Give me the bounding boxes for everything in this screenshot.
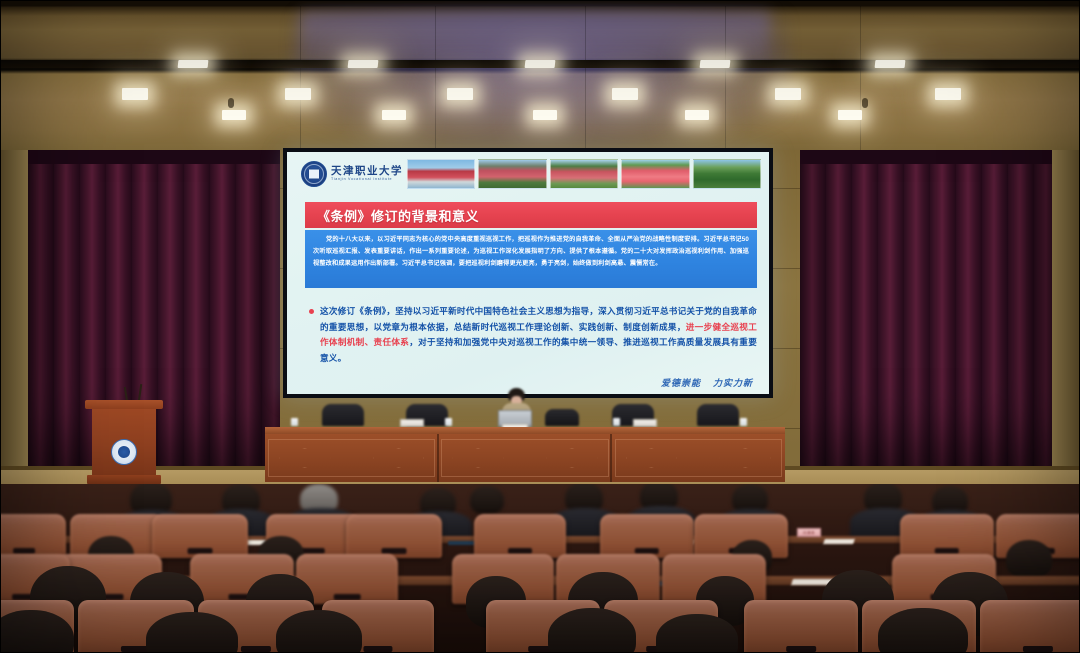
ceiling-speaker-icon (228, 98, 234, 108)
auditorium-seat (346, 514, 442, 558)
university-name-en: Tianjin Vocational Institute (331, 178, 403, 182)
audience-nameplate: 闫清秀 (797, 528, 821, 537)
ceiling-light (685, 110, 709, 120)
audience-head (1006, 540, 1052, 578)
ceiling-light (348, 60, 379, 68)
ceiling-light (525, 60, 556, 68)
campus-photo-5 (693, 159, 761, 189)
campus-photo-1 (407, 159, 475, 189)
slide-signature: 爱德崇能 力实力新 (661, 376, 753, 389)
university-seal-icon (111, 439, 137, 465)
ceiling-light-wash-upper (300, 12, 770, 64)
ceiling-speaker-icon (862, 98, 868, 108)
bullet-dot-icon (309, 309, 314, 314)
ceiling-light (875, 60, 906, 68)
ceiling-light (447, 88, 473, 100)
table-panel (615, 439, 782, 477)
stage-curtain-right (800, 150, 1052, 480)
university-emblem-icon (301, 161, 327, 187)
campus-photo-2 (478, 159, 546, 189)
audience-head (878, 608, 968, 653)
ceiling-light (612, 88, 638, 100)
auditorium-scene: 天津职业大学 Tianjin Vocational Institute 《条例》… (0, 0, 1080, 653)
slide-paragraph-block: 党的十八大以来，以习近平同志为核心的党中央高度重视巡视工作，把巡视作为推进党的自… (305, 230, 757, 288)
lectern-base (87, 475, 161, 484)
slide-title: 《条例》修订的背景和意义 (305, 206, 479, 225)
signature-right: 力实力新 (713, 376, 753, 389)
table-panel (268, 439, 435, 477)
audience-paper (823, 539, 854, 544)
university-name-cn: 天津职业大学 (331, 166, 403, 178)
ceiling-light (775, 88, 801, 100)
audience-head (470, 486, 504, 514)
audience-head (276, 610, 362, 653)
curtain-valance-right (800, 150, 1052, 164)
audience-head (548, 608, 636, 653)
ceiling-light (122, 88, 148, 100)
auditorium-seat (900, 514, 994, 558)
curtain-valance-left (28, 150, 280, 164)
water-cup (291, 418, 298, 426)
water-cup (445, 418, 452, 426)
stage-chair (322, 404, 364, 426)
conference-table (265, 427, 785, 482)
campus-photo-4 (621, 159, 689, 189)
slide-header: 天津职业大学 Tianjin Vocational Institute (287, 156, 769, 192)
auditorium-seat (152, 514, 248, 558)
ceiling (0, 0, 1080, 152)
stage-chair (697, 404, 739, 426)
table-panel (441, 439, 608, 477)
presenter (498, 388, 534, 430)
auditorium-seat (980, 600, 1080, 653)
desk-nameplate (400, 419, 424, 427)
slide-bullet-text: 这次修订《条例》，坚持以习近平新时代中国特色社会主义思想为指导，深入贯彻习近平总… (320, 304, 757, 366)
ceiling-light (382, 110, 406, 120)
campus-photo-strip (407, 159, 769, 189)
lectern-top (85, 400, 163, 409)
ceiling-light (178, 60, 209, 68)
ceiling-light (935, 88, 961, 100)
desk-nameplate (633, 419, 657, 427)
lectern-body (92, 409, 156, 475)
ceiling-light (285, 88, 311, 100)
table-front-panels (265, 434, 785, 482)
wall-panel-left (0, 150, 30, 490)
auditorium-seat (474, 514, 566, 558)
audience-head (656, 614, 738, 653)
slide-paragraph: 党的十八大以来，以习近平同志为核心的党中央高度重视巡视工作，把巡视作为推进党的自… (313, 234, 749, 269)
auditorium-seat (0, 514, 66, 558)
university-logo: 天津职业大学 Tianjin Vocational Institute (287, 161, 407, 187)
campus-photo-3 (550, 159, 618, 189)
water-cup (740, 418, 747, 426)
auditorium-seat (744, 600, 858, 653)
auditorium-seat (600, 514, 694, 558)
ceiling-light (700, 60, 731, 68)
slide-title-bar: 《条例》修订的背景和意义 (305, 202, 757, 228)
audience-area: 刘 萍 闫清秀 (0, 484, 1080, 653)
presentation-slide: 天津职业大学 Tianjin Vocational Institute 《条例》… (287, 152, 769, 394)
signature-left: 爱德崇能 (661, 376, 701, 389)
table-top (265, 427, 785, 434)
projection-screen: 天津职业大学 Tianjin Vocational Institute 《条例》… (283, 148, 773, 398)
ceiling-light (222, 110, 246, 120)
slide-bullet-item: 这次修订《条例》，坚持以习近平新时代中国特色社会主义思想为指导，深入贯彻习近平总… (309, 304, 757, 366)
ceiling-light (838, 110, 862, 120)
water-cup (613, 418, 620, 426)
ceiling-light (533, 110, 557, 120)
lectern (85, 400, 163, 484)
wall-panel-right (1050, 150, 1080, 490)
stage-chair (545, 409, 579, 426)
